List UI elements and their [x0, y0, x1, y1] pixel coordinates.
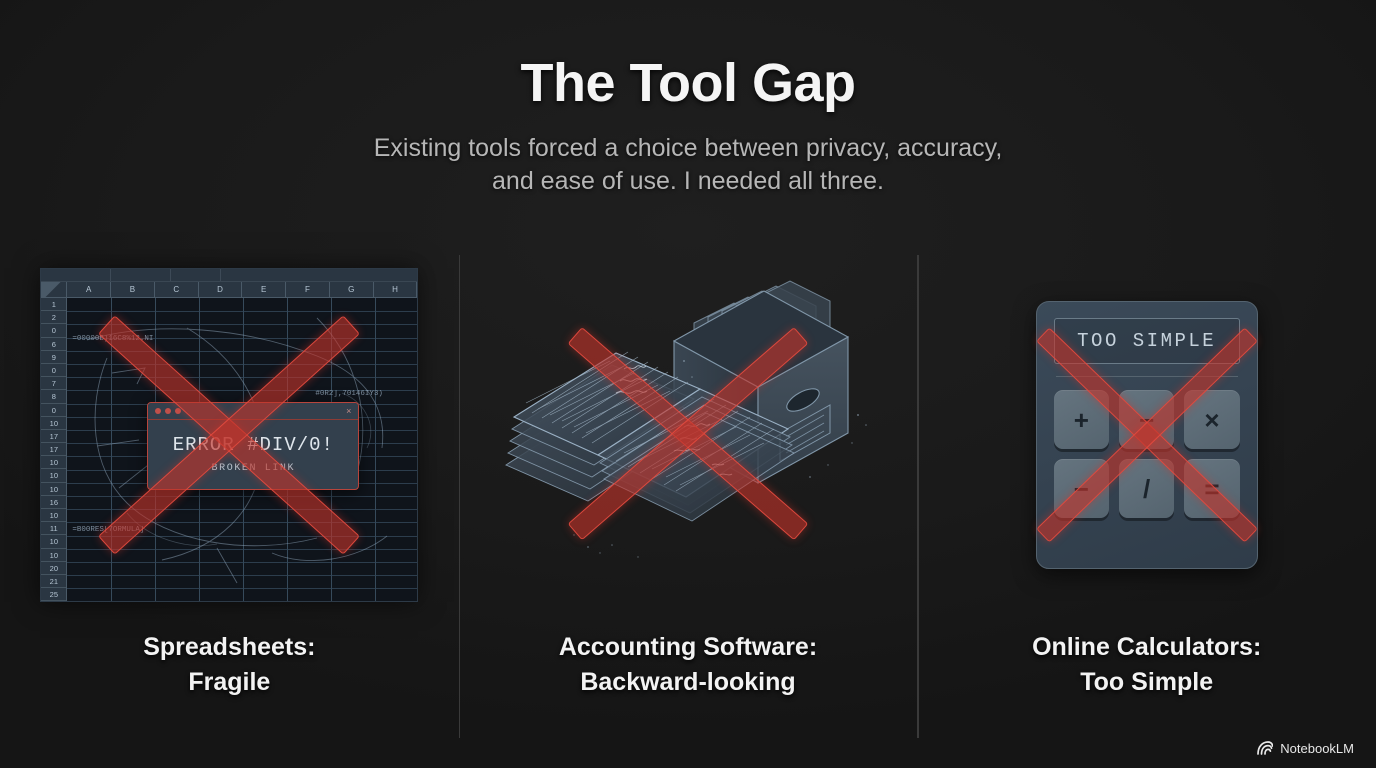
- row-header-8[interactable]: 8: [41, 390, 66, 403]
- calculator-key-minus[interactable]: −: [1054, 459, 1109, 518]
- spreadsheet-art: A B C D E F G H 120690780101717101010161…: [0, 250, 459, 620]
- spreadsheet-window: A B C D E F G H 120690780101717101010161…: [40, 268, 418, 602]
- column-header-f[interactable]: F: [286, 282, 330, 297]
- accounting-art: [459, 250, 918, 620]
- calculator-key-multiply[interactable]: ×: [1184, 390, 1239, 449]
- select-all-corner[interactable]: [41, 282, 67, 297]
- caption-online-calculators: Online Calculators: Too Simple: [1032, 630, 1261, 700]
- slide-header: The Tool Gap Existing tools forced a cho…: [0, 0, 1376, 198]
- column-spreadsheets: A B C D E F G H 120690780101717101010161…: [0, 250, 459, 730]
- spreadsheet-cells[interactable]: =00000B)16C8%12.NI #0R2],70146IY3) =B00R…: [67, 298, 417, 602]
- calculator-art: TOO SIMPLE + − × − / =: [917, 250, 1376, 620]
- error-message: ERROR #DIV/0!: [148, 434, 358, 456]
- calculator-keypad: + − × − / =: [1054, 390, 1240, 518]
- row-header-22[interactable]: 21: [41, 575, 66, 588]
- row-header-6[interactable]: 0: [41, 364, 66, 377]
- caption-line-1: Online Calculators:: [1032, 633, 1261, 661]
- column-header-e[interactable]: E: [242, 282, 286, 297]
- subtitle-line-2: and ease of use. I needed all three.: [0, 165, 1376, 198]
- calculator-key-minus-top[interactable]: −: [1119, 390, 1174, 449]
- row-header-4[interactable]: 6: [41, 338, 66, 351]
- column-accounting-software: Accounting Software: Backward-looking: [459, 250, 918, 730]
- caption-line-1: Spreadsheets:: [143, 633, 315, 661]
- comparison-columns: A B C D E F G H 120690780101717101010161…: [0, 250, 1376, 730]
- column-header-h[interactable]: H: [374, 282, 418, 297]
- notebooklm-logo-icon: [1256, 741, 1273, 756]
- isometric-illustration: [488, 265, 888, 605]
- row-header-15[interactable]: 10: [41, 483, 66, 496]
- page-title: The Tool Gap: [0, 52, 1376, 114]
- cell-formula-1: =00000B)16C8%12.NI: [72, 335, 153, 343]
- spreadsheet-column-headers: A B C D E F G H: [41, 282, 417, 298]
- error-dialog-titlebar: ×: [148, 403, 358, 420]
- column-header-g[interactable]: G: [330, 282, 374, 297]
- caption-line-2: Fragile: [143, 665, 315, 700]
- watermark: NotebookLM: [1256, 741, 1354, 756]
- cell-formula-2: #0R2],70146IY3): [315, 390, 383, 398]
- subtitle-line-1: Existing tools forced a choice between p…: [374, 134, 1003, 162]
- caption-line-2: Backward-looking: [559, 665, 817, 700]
- row-header-23[interactable]: 25: [41, 588, 66, 601]
- row-header-7[interactable]: 7: [41, 377, 66, 390]
- error-dialog: × ERROR #DIV/0! BROKEN LINK: [147, 402, 359, 490]
- calculator-key-plus[interactable]: +: [1054, 390, 1109, 449]
- row-header-20[interactable]: 10: [41, 549, 66, 562]
- row-header-1[interactable]: 1: [41, 298, 66, 311]
- row-header-11[interactable]: 17: [41, 430, 66, 443]
- row-header-18[interactable]: 11: [41, 522, 66, 535]
- window-dot-green-icon: [175, 408, 181, 414]
- calculator-display-text: TOO SIMPLE: [1077, 330, 1216, 352]
- calculator-key-equals[interactable]: =: [1184, 459, 1239, 518]
- column-header-a[interactable]: A: [67, 282, 111, 297]
- ledger-and-filebox-icon: [488, 265, 888, 605]
- cell-formula-3: =B00RES[7ORMULA]: [72, 526, 144, 534]
- caption-line-1: Accounting Software:: [559, 633, 817, 661]
- caption-accounting-software: Accounting Software: Backward-looking: [559, 630, 817, 700]
- spreadsheet-grid: 1206907801017171010101610111010202125252…: [41, 298, 417, 602]
- row-header-19[interactable]: 10: [41, 535, 66, 548]
- column-header-d[interactable]: D: [199, 282, 243, 297]
- spreadsheet-toolbar: [41, 269, 417, 282]
- column-online-calculators: TOO SIMPLE + − × − / =: [917, 250, 1376, 730]
- page-subtitle: Existing tools forced a choice between p…: [0, 132, 1376, 198]
- close-icon[interactable]: ×: [346, 407, 351, 416]
- row-header-2[interactable]: 2: [41, 311, 66, 324]
- spreadsheet-row-headers: 1206907801017171010101610111010202125252…: [41, 298, 67, 602]
- watermark-label: NotebookLM: [1280, 741, 1354, 756]
- caption-spreadsheets: Spreadsheets: Fragile: [143, 630, 315, 700]
- caption-line-2: Too Simple: [1032, 665, 1261, 700]
- slide-root: The Tool Gap Existing tools forced a cho…: [0, 0, 1376, 768]
- window-dot-amber-icon: [165, 408, 171, 414]
- row-header-12[interactable]: 17: [41, 443, 66, 456]
- calculator-key-divide[interactable]: /: [1119, 459, 1174, 518]
- row-header-3[interactable]: 0: [41, 324, 66, 337]
- row-header-16[interactable]: 16: [41, 496, 66, 509]
- row-header-5[interactable]: 9: [41, 351, 66, 364]
- row-header-14[interactable]: 10: [41, 469, 66, 482]
- calculator-display: TOO SIMPLE: [1054, 318, 1240, 364]
- row-header-17[interactable]: 10: [41, 509, 66, 522]
- calculator-divider: [1056, 376, 1238, 377]
- calculator: TOO SIMPLE + − × − / =: [1036, 301, 1258, 569]
- column-header-c[interactable]: C: [155, 282, 199, 297]
- row-header-24[interactable]: 25: [41, 601, 66, 602]
- row-header-21[interactable]: 20: [41, 562, 66, 575]
- row-header-10[interactable]: 10: [41, 417, 66, 430]
- row-header-13[interactable]: 10: [41, 456, 66, 469]
- column-header-b[interactable]: B: [111, 282, 155, 297]
- error-detail: BROKEN LINK: [148, 463, 358, 474]
- row-header-9[interactable]: 0: [41, 404, 66, 417]
- window-dot-red-icon: [155, 408, 161, 414]
